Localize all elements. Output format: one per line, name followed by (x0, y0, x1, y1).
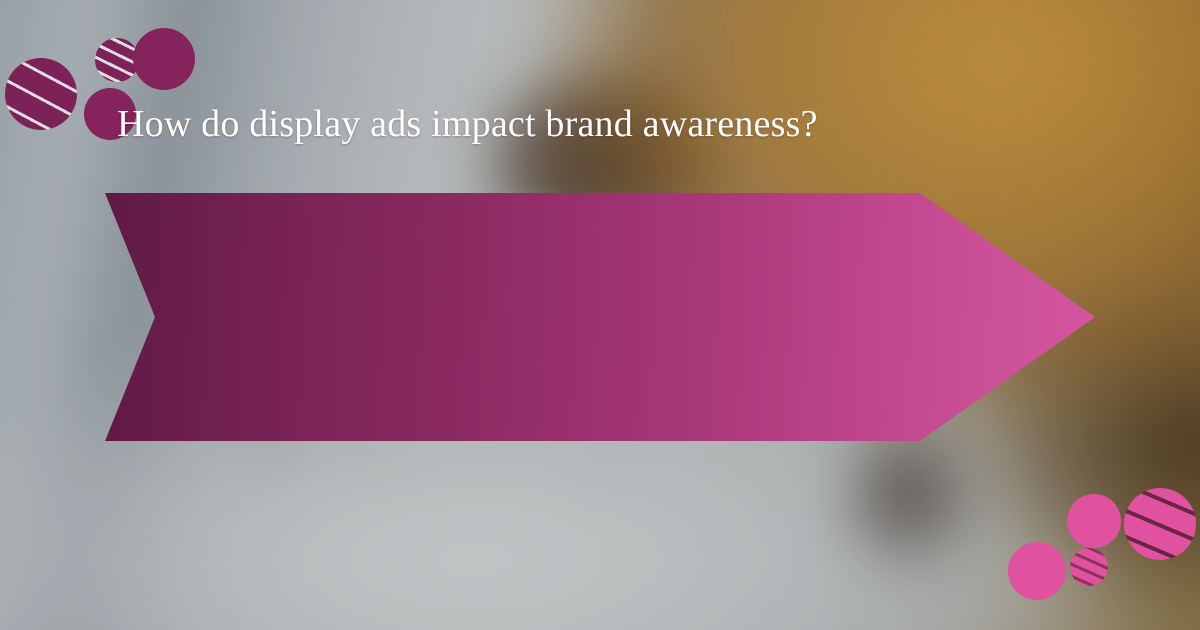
circle-striped-large-icon (5, 58, 77, 130)
circle-solid-medium-icon (1067, 494, 1121, 548)
circle-striped-large-icon (1124, 488, 1196, 560)
question-headline: How do display ads impact brand awarenes… (117, 0, 818, 248)
circle-solid-large-icon (1008, 542, 1066, 600)
banner-graphic-canvas: How do display ads impact brand awarenes… (0, 0, 1200, 630)
circle-striped-small-icon (1070, 548, 1108, 586)
